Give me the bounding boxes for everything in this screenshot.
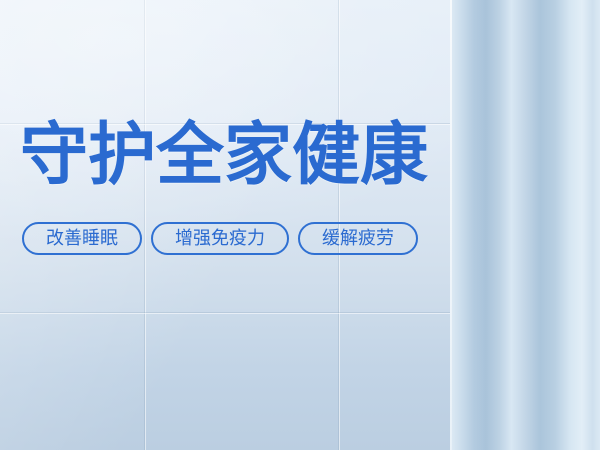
benefit-tag-boost-immunity[interactable]: 增强免疫力 bbox=[151, 222, 289, 255]
glossy-column-band bbox=[450, 0, 600, 450]
column-left-highlight bbox=[450, 0, 452, 450]
benefit-tag-list: 改善睡眠 增强免疫力 缓解疲劳 bbox=[22, 222, 418, 255]
promo-banner: 守护全家健康 改善睡眠 增强免疫力 缓解疲劳 bbox=[0, 0, 600, 450]
page-title: 守护全家健康 bbox=[20, 122, 428, 190]
benefit-tag-relieve-fatigue[interactable]: 缓解疲劳 bbox=[298, 222, 418, 255]
benefit-tag-improve-sleep[interactable]: 改善睡眠 bbox=[22, 222, 142, 255]
